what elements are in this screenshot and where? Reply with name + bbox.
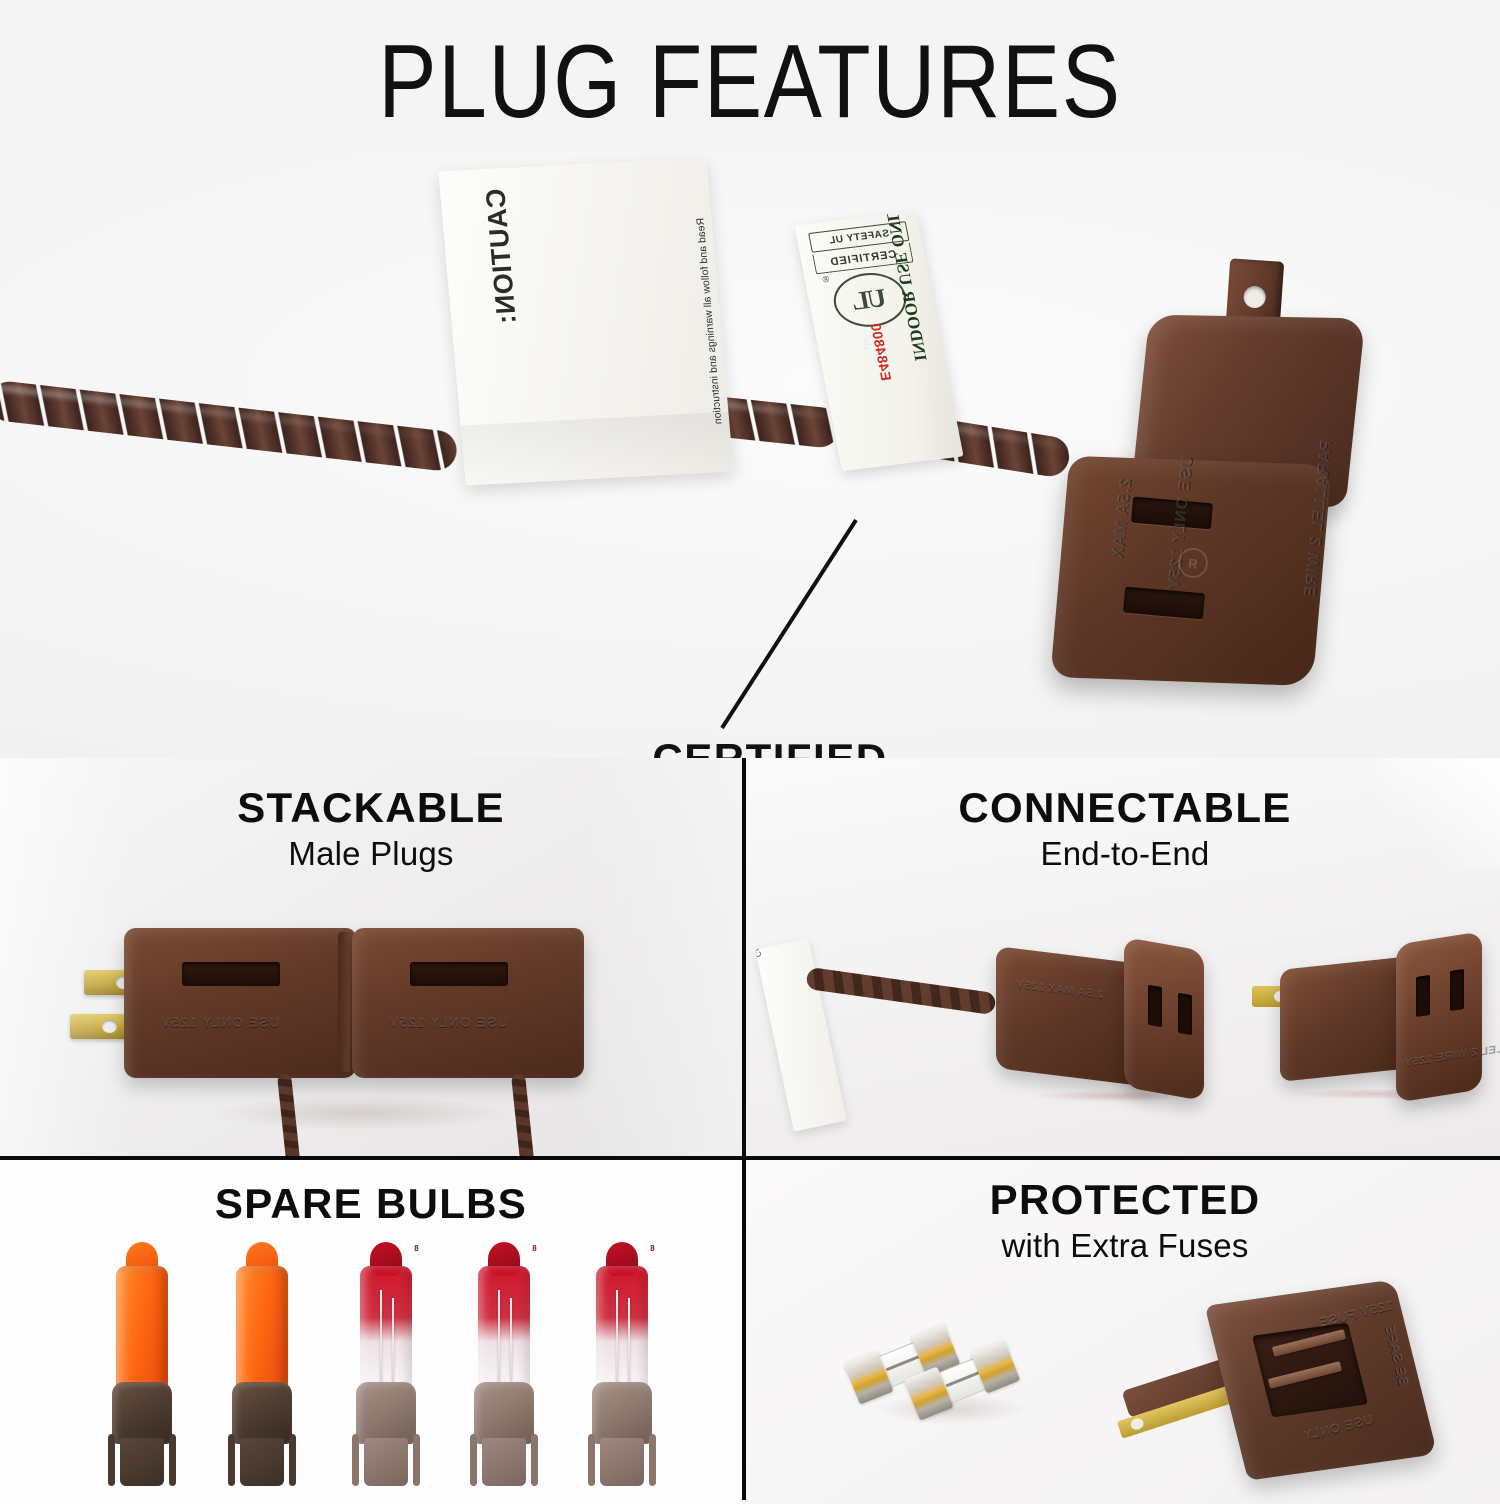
stacked-plug-second: USE ONLY 125V <box>352 928 584 1078</box>
panel-bulbs-title: SPARE BULBS <box>0 1182 742 1226</box>
bulb-lead-right <box>169 1434 176 1486</box>
bulb-filament-b <box>510 1298 512 1382</box>
male-face-slot-a <box>1416 975 1430 1017</box>
bulb-nub-icon: 8 <box>410 1243 423 1254</box>
feature-panel-grid: STACKABLE Male Plugs USE ONLY 125V USE O… <box>0 758 1500 1500</box>
bulb-foot <box>482 1438 526 1486</box>
bulb-lead-right <box>289 1434 296 1486</box>
bulb-red-2: 8 <box>458 1242 550 1492</box>
connectable-caution-tag: CAUTION - Use no more than 3 connected e… <box>755 938 846 1131</box>
registered-trademark-icon: ® <box>822 274 831 285</box>
bulb-filament-a <box>616 1290 618 1384</box>
bulb-filament-b <box>628 1298 630 1382</box>
male-face-slot-b <box>1450 969 1464 1011</box>
plug-fuse-compartment: 125V FUSE BE SAFE USE ONLY <box>1122 1270 1452 1504</box>
caution-label: CAUTION: Read and follow all warnings an… <box>438 158 733 486</box>
plug-wire-loop-2 <box>511 1074 535 1156</box>
bulb-base <box>474 1382 534 1444</box>
bulb-foot <box>240 1438 284 1486</box>
female-plug-emboss: 2.5A MAX 125V <box>1016 979 1103 1002</box>
bulb-lead-left <box>588 1434 595 1486</box>
female-plug-face <box>1124 937 1204 1101</box>
caution-heading: CAUTION: <box>480 188 523 325</box>
panel-bulbs-headline: SPARE BULBS <box>0 1182 742 1226</box>
male-plug-face: PARALLEL 2 WIRE 125V <box>1396 931 1482 1103</box>
bulb-glass <box>116 1266 168 1388</box>
bulb-glass <box>360 1266 412 1388</box>
bulb-red-1: 8 <box>340 1242 432 1492</box>
infographic-page: PLUG FEATURES CAUTION: Read and follow a… <box>0 0 1500 1500</box>
connectable-tag-text: CAUTION - Use no more than 3 connected e… <box>755 938 764 961</box>
panel-connectable-headline: CONNECTABLE <box>746 786 1500 830</box>
panel-connectable-subline: End-to-End <box>746 835 1500 873</box>
spare-bulb-row: 8 8 <box>96 1242 656 1492</box>
bulb-foot <box>600 1438 644 1486</box>
bulb-orange-1 <box>96 1242 188 1492</box>
page-title: PLUG FEATURES <box>120 28 1380 137</box>
bulb-filament-a <box>498 1290 500 1384</box>
bulb-base <box>112 1382 172 1444</box>
bulb-red-3: 8 <box>576 1242 668 1492</box>
male-end-plug: PARALLEL 2 WIRE 125V <box>1256 932 1486 1122</box>
panel-connectable: CONNECTABLE End-to-End CAUTION - Use no … <box>746 758 1500 1156</box>
hero-female-plug: 2.5A MAX USE ONLY 125V PARALLEL 2 WIRE R <box>1030 260 1370 690</box>
panel-protected: PROTECTED with Extra Fuses <box>746 1160 1500 1504</box>
bulb-filament-b <box>392 1298 394 1382</box>
stacked-plug-first: USE ONLY 125V <box>124 928 356 1078</box>
bulb-glass <box>596 1266 648 1388</box>
bulb-lead-left <box>470 1434 477 1486</box>
bulb-lead-right <box>413 1434 420 1486</box>
bulb-lead-left <box>352 1434 359 1486</box>
bulb-lead-right <box>531 1434 538 1486</box>
panel-stackable-subline: Male Plugs <box>0 835 742 873</box>
female-slot-b <box>1178 993 1192 1035</box>
connectable-cord <box>805 967 996 1015</box>
panel-spare-bulbs: SPARE BULBS <box>0 1160 742 1504</box>
panel-connectable-title: CONNECTABLE End-to-End <box>746 786 1500 873</box>
panel-protected-title: PROTECTED with Extra Fuses <box>746 1178 1500 1265</box>
plug-joint-band <box>338 932 350 1072</box>
stacked-male-plugs: USE ONLY 125V USE ONLY 125V <box>86 908 646 1138</box>
bulb-nub-icon: 8 <box>646 1243 659 1254</box>
panel-protected-headline: PROTECTED <box>746 1178 1500 1222</box>
panel-protected-subline: with Extra Fuses <box>746 1227 1500 1265</box>
bulb-nub-icon: 8 <box>528 1243 541 1254</box>
plug-slot-2 <box>410 962 508 986</box>
hero-image: CAUTION: Read and follow all warnings an… <box>0 150 1500 758</box>
plug-wire-loop-1 <box>277 1074 301 1156</box>
plug-emboss-1: USE ONLY 125V <box>160 1014 280 1030</box>
panel-stackable-headline: STACKABLE <box>0 786 742 830</box>
panel-stackable: STACKABLE Male Plugs USE ONLY 125V USE O… <box>0 758 742 1156</box>
bulb-lead-right <box>649 1434 656 1486</box>
bulb-base <box>232 1382 292 1444</box>
bulb-base <box>356 1382 416 1444</box>
bulb-foot <box>120 1438 164 1486</box>
bulb-glass <box>236 1266 288 1388</box>
bulb-orange-2 <box>216 1242 308 1492</box>
protected-components: 125V FUSE BE SAFE USE ONLY <box>746 1270 1500 1504</box>
bulb-glass <box>478 1266 530 1388</box>
female-slot-a <box>1148 985 1162 1027</box>
plug-emboss-2: USE ONLY 125V <box>388 1014 508 1030</box>
plug-slot-1 <box>182 962 280 986</box>
connectable-plug-pair: CAUTION - Use no more than 3 connected e… <box>746 928 1500 1148</box>
male-plug-emboss: PARALLEL 2 WIRE 125V <box>1404 1035 1500 1069</box>
bulb-lead-left <box>108 1434 115 1486</box>
bulb-base <box>592 1382 652 1444</box>
bulb-foot <box>364 1438 408 1486</box>
female-end-plug: 2.5A MAX 125V <box>996 938 1206 1118</box>
bulb-filament-a <box>380 1290 382 1384</box>
certified-callout: CERTIFIED for safety <box>555 736 985 758</box>
bulb-lead-left <box>228 1434 235 1486</box>
callout-headline: CERTIFIED <box>555 736 985 758</box>
panel-stackable-title: STACKABLE Male Plugs <box>0 786 742 873</box>
